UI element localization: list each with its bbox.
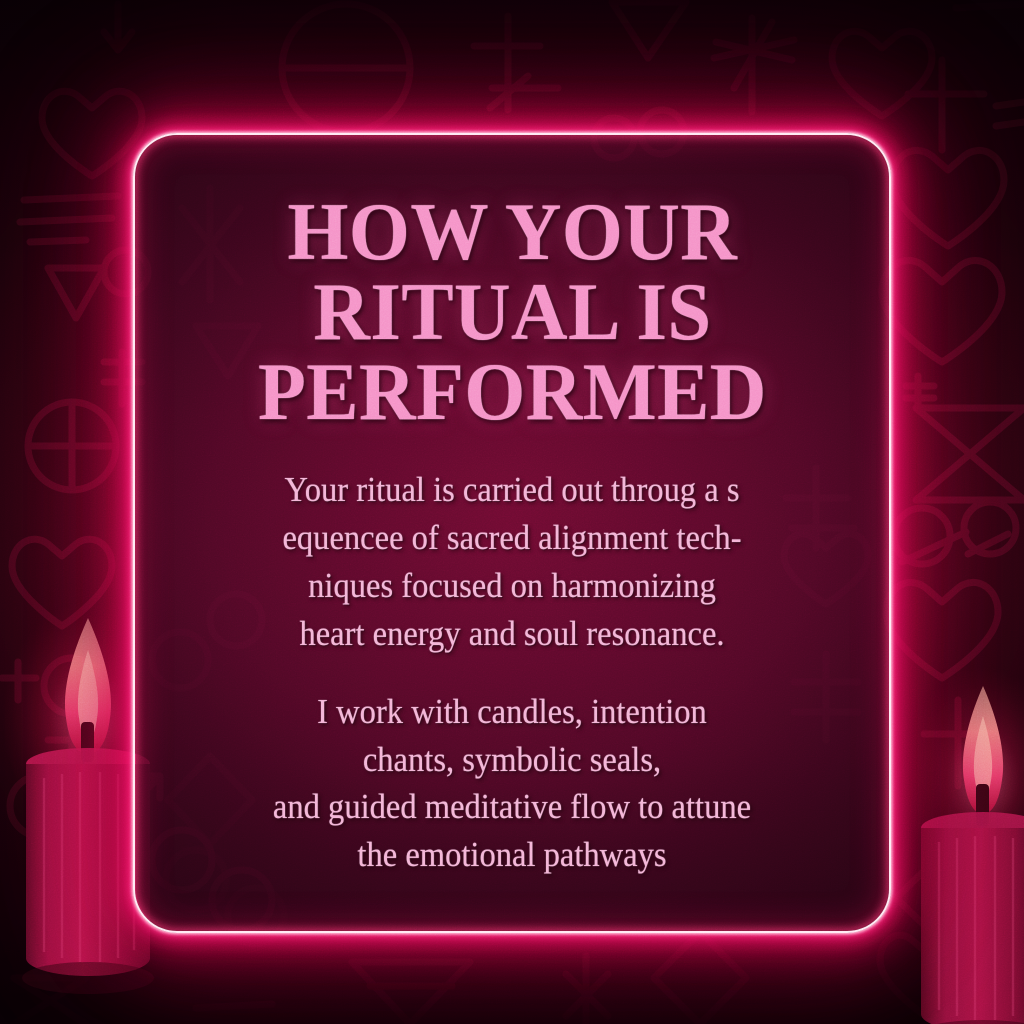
page-title: HOW YOUR RITUAL IS PERFORMED <box>258 192 767 432</box>
headline-line: HOW YOUR <box>258 192 767 272</box>
ritual-poster: HOW YOUR RITUAL IS PERFORMED Your ritual… <box>0 0 1024 1024</box>
paragraph-line: equencee of sacred alignment tech- <box>205 514 819 562</box>
paragraph-line: heart energy and soul resonance. <box>205 610 819 658</box>
headline-line: RITUAL IS <box>258 272 767 352</box>
paragraph-line: the emotional pathways <box>205 831 819 879</box>
paragraph-line: Your ritual is carried out throug a s <box>205 466 819 514</box>
body-text-block: Your ritual is carried out throug a s eq… <box>182 466 842 880</box>
paragraph-line: chants, symbolic seals, <box>205 736 819 784</box>
paragraph-ritual-description: Your ritual is carried out throug a s eq… <box>205 466 819 658</box>
paragraph-line: and guided meditative flow to attune <box>205 783 819 831</box>
headline-line: PERFORMED <box>258 352 767 432</box>
paragraph-ritual-methods: I work with candles, intention chants, s… <box>205 688 819 880</box>
paragraph-line: I work with candles, intention <box>205 688 819 736</box>
paragraph-line: niques focused on harmonizing <box>205 562 819 610</box>
poster-content: HOW YOUR RITUAL IS PERFORMED Your ritual… <box>160 160 864 906</box>
